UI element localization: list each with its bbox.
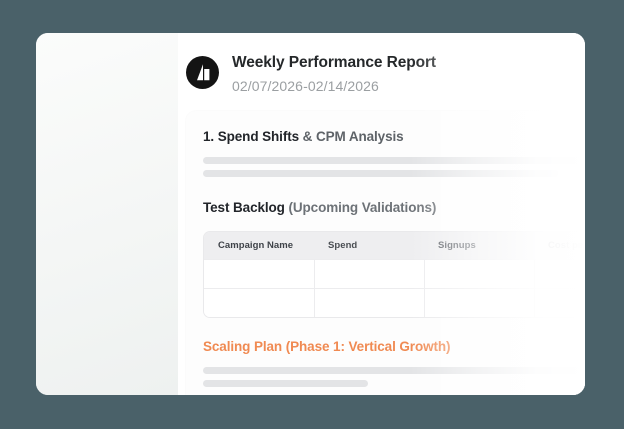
document-title-block: Weekly Performance Report 02/07/2026-02/… bbox=[219, 53, 436, 96]
skeleton-bar bbox=[203, 380, 368, 387]
date-range-label: 02/07/2026-02/14/2026 bbox=[232, 76, 436, 96]
app-window: Weekly Performance Report 02/07/2026-02/… bbox=[36, 33, 585, 395]
table-cell-spend bbox=[314, 260, 424, 288]
table-row[interactable] bbox=[204, 259, 585, 288]
document-header: Weekly Performance Report 02/07/2026-02/… bbox=[178, 33, 585, 96]
section-heading-main: 1. Spend Shifts bbox=[203, 129, 299, 144]
brand-mark-icon bbox=[186, 56, 219, 89]
table-row[interactable] bbox=[204, 288, 585, 317]
column-header-cost-per-lead[interactable]: Cost per Le bbox=[534, 240, 585, 251]
section-heading-main: Test Backlog bbox=[203, 200, 285, 215]
left-panel bbox=[36, 33, 178, 395]
section-heading-rest: & CPM Analysis bbox=[299, 129, 404, 144]
skeleton-bar bbox=[203, 170, 558, 177]
section-heading-main: Scaling Plan bbox=[203, 339, 282, 354]
test-backlog-table: Campaign Name Spend Signups Cost per Le bbox=[203, 231, 585, 318]
report-document-card: 1. Spend Shifts & CPM Analysis Test Back… bbox=[186, 111, 585, 395]
skeleton-bar bbox=[203, 157, 585, 164]
table-cell-campaign-name bbox=[204, 289, 314, 317]
section-heading-spend-shifts: 1. Spend Shifts & CPM Analysis bbox=[203, 128, 585, 146]
section-heading-test-backlog: Test Backlog (Upcoming Validations) bbox=[203, 199, 585, 217]
column-header-spend[interactable]: Spend bbox=[314, 240, 424, 251]
table-cell-signups bbox=[424, 289, 534, 317]
section-heading-rest: (Phase 1: Vertical Growth) bbox=[282, 339, 450, 354]
section-heading-scaling-plan: Scaling Plan (Phase 1: Vertical Growth) bbox=[203, 338, 585, 356]
table-cell-cost-per-lead bbox=[534, 260, 585, 288]
table-header-row: Campaign Name Spend Signups Cost per Le bbox=[204, 232, 585, 259]
column-header-campaign-name[interactable]: Campaign Name bbox=[204, 240, 314, 251]
skeleton-text-block-2 bbox=[203, 367, 585, 387]
main-content-region: Weekly Performance Report 02/07/2026-02/… bbox=[178, 33, 585, 395]
skeleton-text-block-1 bbox=[203, 157, 585, 177]
table-cell-signups bbox=[424, 260, 534, 288]
column-header-signups[interactable]: Signups bbox=[424, 240, 534, 251]
table-cell-campaign-name bbox=[204, 260, 314, 288]
skeleton-bar bbox=[203, 367, 585, 374]
table-cell-cost-per-lead bbox=[534, 289, 585, 317]
table-cell-spend bbox=[314, 289, 424, 317]
page-title: Weekly Performance Report bbox=[232, 53, 436, 73]
section-heading-rest: (Upcoming Validations) bbox=[285, 200, 436, 215]
